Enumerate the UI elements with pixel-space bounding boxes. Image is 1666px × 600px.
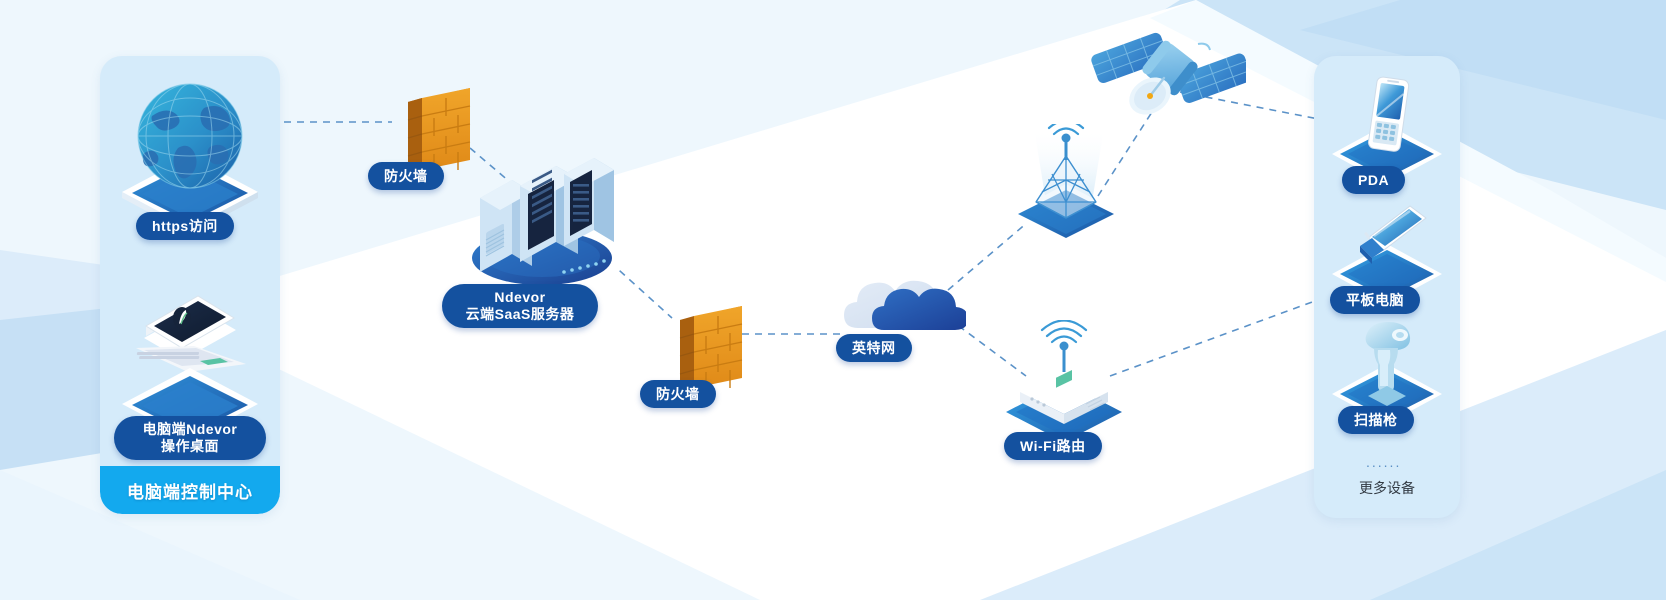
more-devices-label: 更多设备 <box>1314 478 1460 498</box>
label-tablet: 平板电脑 <box>1330 286 1420 314</box>
node-satellite[interactable] <box>1086 20 1246 130</box>
globe-icon <box>100 74 280 234</box>
node-cell-tower[interactable] <box>1000 124 1130 244</box>
label-desktop-client: 电脑端Ndevor 操作桌面 <box>114 416 266 460</box>
node-globe[interactable]: https访问 <box>100 74 280 254</box>
node-internet-cloud[interactable]: 英特网 <box>836 250 976 370</box>
node-desktop-client[interactable]: 电脑端Ndevor 操作桌面 <box>100 268 280 478</box>
laptop-icon <box>100 268 280 428</box>
label-firewall-2: 防火墙 <box>640 380 716 408</box>
node-saas-server[interactable]: Ndevor 云端SaaS服务器 <box>446 136 646 336</box>
label-internet: 英特网 <box>836 334 912 362</box>
label-https-access: https访问 <box>136 212 234 240</box>
more-devices-dots: ...... <box>1366 454 1401 470</box>
label-wifi-router: Wi-Fi路由 <box>1004 432 1102 460</box>
node-scanner[interactable]: 扫描枪 <box>1314 312 1460 442</box>
label-line-1: 电脑端Ndevor <box>143 421 238 438</box>
left-panel-footer-label: 电脑端控制中心 <box>100 466 280 514</box>
cell-tower-icon <box>1000 124 1130 244</box>
label-firewall-1: 防火墙 <box>368 162 444 190</box>
wifi-router-icon <box>990 320 1140 450</box>
label-saas-server: Ndevor 云端SaaS服务器 <box>442 284 598 328</box>
node-pda[interactable]: PDA <box>1314 72 1460 202</box>
right-devices-panel: PDA <box>1314 56 1460 518</box>
diagram-canvas: https访问 <box>0 0 1666 600</box>
label-pda: PDA <box>1342 166 1405 194</box>
satellite-icon <box>1086 20 1246 130</box>
left-control-center-panel: https访问 <box>100 56 280 514</box>
node-wifi-router[interactable]: Wi-Fi路由 <box>990 320 1150 470</box>
label-line-2: 操作桌面 <box>161 438 219 455</box>
label-scanner: 扫描枪 <box>1338 406 1414 434</box>
node-firewall-2[interactable]: 防火墙 <box>660 300 770 420</box>
node-tablet[interactable]: 平板电脑 <box>1314 192 1460 322</box>
label-line-1: Ndevor <box>494 289 545 306</box>
label-line-2: 云端SaaS服务器 <box>466 306 575 323</box>
